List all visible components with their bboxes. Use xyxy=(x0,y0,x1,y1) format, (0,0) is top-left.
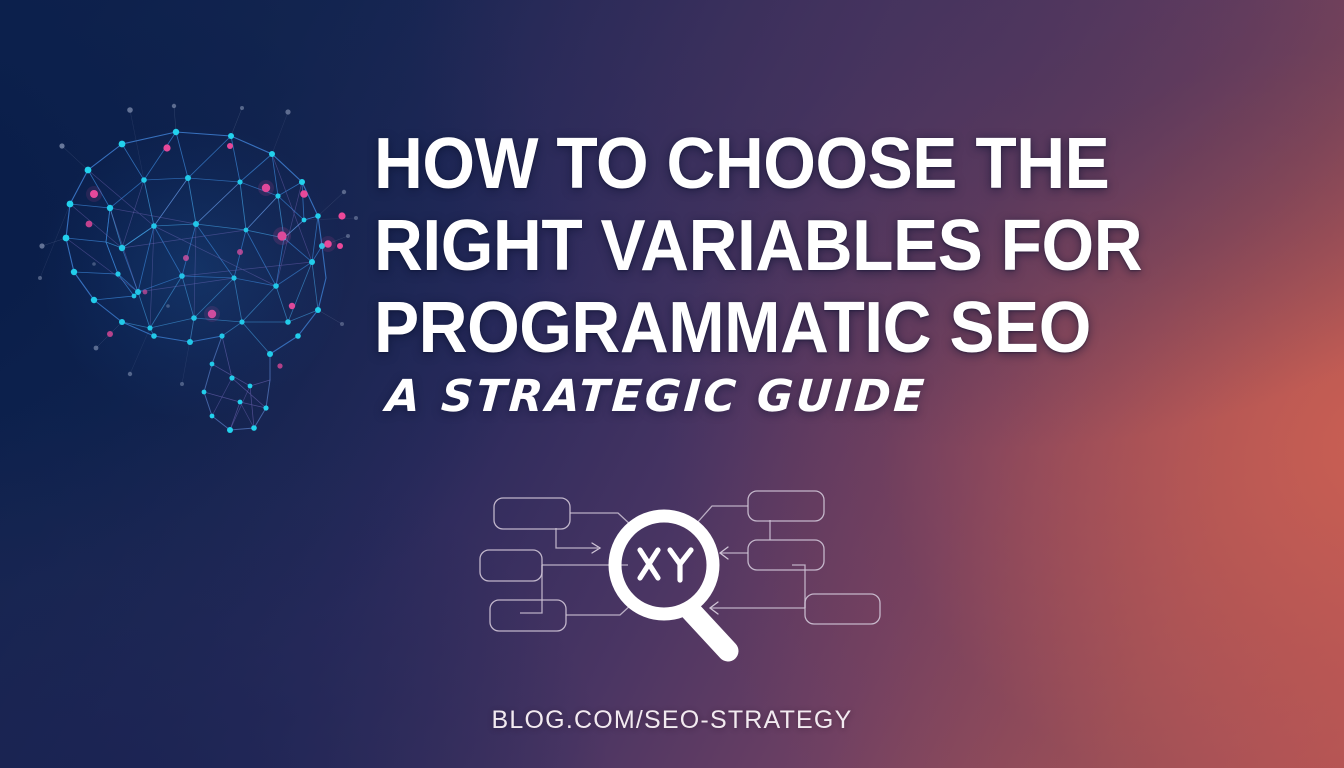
flowchart-box-right-top xyxy=(748,491,824,521)
flowchart-box-right-mid xyxy=(748,540,824,570)
flowchart-svg: X Y xyxy=(480,468,880,670)
brain-nodes-outlier xyxy=(38,104,358,386)
brain-network-svg xyxy=(26,96,366,446)
magnifier-handle xyxy=(691,611,728,651)
magnifier-lens-variables xyxy=(640,550,691,580)
brain-edges xyxy=(40,106,356,430)
magnifier-ring xyxy=(615,516,713,614)
flowchart-box-left-mid xyxy=(480,550,542,581)
headline-line-1: HOW TO CHOOSE THE xyxy=(374,123,1154,205)
flowchart-box-left-bottom xyxy=(490,600,566,631)
flowchart-box-left-top xyxy=(494,498,570,529)
brain-nodes-cyan xyxy=(63,129,325,433)
page-subtitle: A STRATEGIC GUIDE xyxy=(384,371,928,423)
page-title: HOW TO CHOOSE THE RIGHT VARIABLES FOR PR… xyxy=(374,123,1204,369)
headline-line-3: PROGRAMMATIC SEO xyxy=(374,287,1154,369)
blog-hero-banner: HOW TO CHOOSE THE RIGHT VARIABLES FOR PR… xyxy=(0,0,1344,768)
flowchart-box-right-bottom xyxy=(805,594,880,624)
variable-selection-flowchart: X Y xyxy=(480,468,880,670)
brain-network-graphic xyxy=(26,96,366,446)
footer-url[interactable]: BLOG.COM/SEO-STRATEGY xyxy=(0,706,1344,735)
headline-line-2: RIGHT VARIABLES FOR xyxy=(374,205,1154,287)
